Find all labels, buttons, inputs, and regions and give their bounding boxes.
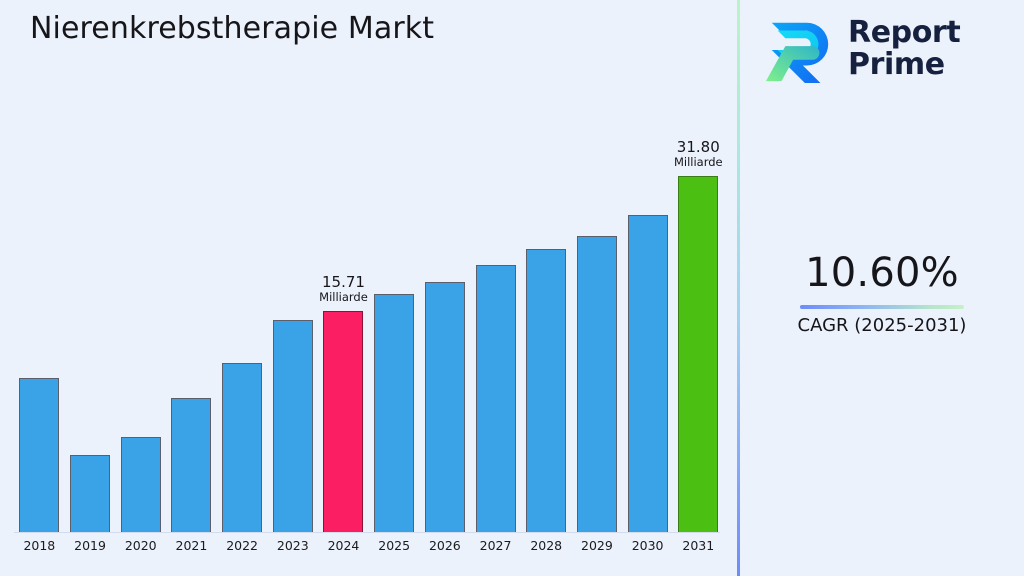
bar-slot	[622, 100, 673, 533]
x-axis-baseline	[14, 532, 720, 533]
x-tick-2028: 2028	[521, 538, 572, 553]
bar-series: 15.71Milliarde31.80Milliarde	[14, 100, 724, 533]
side-panel: Report Prime 10.60% CAGR (2025-2031)	[740, 0, 1024, 576]
x-tick-2027: 2027	[470, 538, 521, 553]
page-title: Nierenkrebstherapie Markt	[30, 11, 434, 46]
bar-slot	[115, 100, 166, 533]
bar-slot	[14, 100, 65, 533]
bar-unit-2024: Milliarde	[319, 291, 368, 305]
bar-2028[interactable]	[526, 249, 566, 533]
x-tick-2021: 2021	[166, 538, 217, 553]
bar-slot	[217, 100, 268, 533]
bar-value-label-2024: 15.71Milliarde	[319, 274, 368, 305]
x-tick-2025: 2025	[369, 538, 420, 553]
cagr-value: 10.60%	[740, 250, 1024, 296]
infographic-root: Nierenkrebstherapie Markt 15.71Milliarde…	[0, 0, 1024, 576]
bar-2029[interactable]	[577, 236, 617, 533]
bar-2031[interactable]: 31.80Milliarde	[678, 176, 718, 533]
bar-slot	[420, 100, 471, 533]
bar-value-2024: 15.71	[319, 274, 368, 292]
cagr-block: 10.60% CAGR (2025-2031)	[740, 250, 1024, 336]
bar-slot	[369, 100, 420, 533]
bar-2027[interactable]	[476, 265, 516, 533]
x-tick-2029: 2029	[572, 538, 623, 553]
bar-2024[interactable]: 15.71Milliarde	[323, 311, 363, 533]
bar-slot	[572, 100, 623, 533]
x-tick-2020: 2020	[115, 538, 166, 553]
brand-wordmark: Report Prime	[848, 18, 960, 80]
bar-2018[interactable]	[19, 378, 59, 533]
report-prime-logo-icon	[760, 13, 838, 85]
bar-slot	[267, 100, 318, 533]
x-tick-2023: 2023	[267, 538, 318, 553]
bar-slot: 15.71Milliarde	[318, 100, 369, 533]
x-tick-2022: 2022	[217, 538, 268, 553]
bar-2025[interactable]	[374, 294, 414, 533]
plot-area: 15.71Milliarde31.80Milliarde	[14, 100, 724, 533]
x-tick-2026: 2026	[420, 538, 471, 553]
bar-2030[interactable]	[628, 215, 668, 533]
brand-line-2: Prime	[848, 50, 960, 80]
cagr-divider-rule	[800, 305, 964, 309]
brand-logo: Report Prime	[760, 10, 1010, 88]
bar-slot	[166, 100, 217, 533]
x-tick-2024: 2024	[318, 538, 369, 553]
bar-value-label-2031: 31.80Milliarde	[674, 139, 723, 170]
bar-value-2031: 31.80	[674, 139, 723, 157]
bar-slot	[521, 100, 572, 533]
bar-2019[interactable]	[70, 455, 110, 533]
bar-slot	[470, 100, 521, 533]
x-axis-tick-labels: 2018201920202021202220232024202520262027…	[14, 538, 724, 553]
x-tick-2030: 2030	[622, 538, 673, 553]
x-tick-2018: 2018	[14, 538, 65, 553]
bar-2026[interactable]	[425, 282, 465, 533]
bar-2020[interactable]	[121, 437, 161, 533]
chart-panel: Nierenkrebstherapie Markt 15.71Milliarde…	[0, 0, 738, 576]
x-tick-2031: 2031	[673, 538, 724, 553]
x-tick-2019: 2019	[65, 538, 116, 553]
bar-unit-2031: Milliarde	[674, 156, 723, 170]
bar-slot	[65, 100, 116, 533]
bar-2021[interactable]	[171, 398, 211, 533]
bar-2023[interactable]	[273, 320, 313, 533]
bar-slot: 31.80Milliarde	[673, 100, 724, 533]
bar-2022[interactable]	[222, 363, 262, 533]
cagr-caption: CAGR (2025-2031)	[740, 315, 1024, 336]
brand-line-1: Report	[848, 18, 960, 48]
